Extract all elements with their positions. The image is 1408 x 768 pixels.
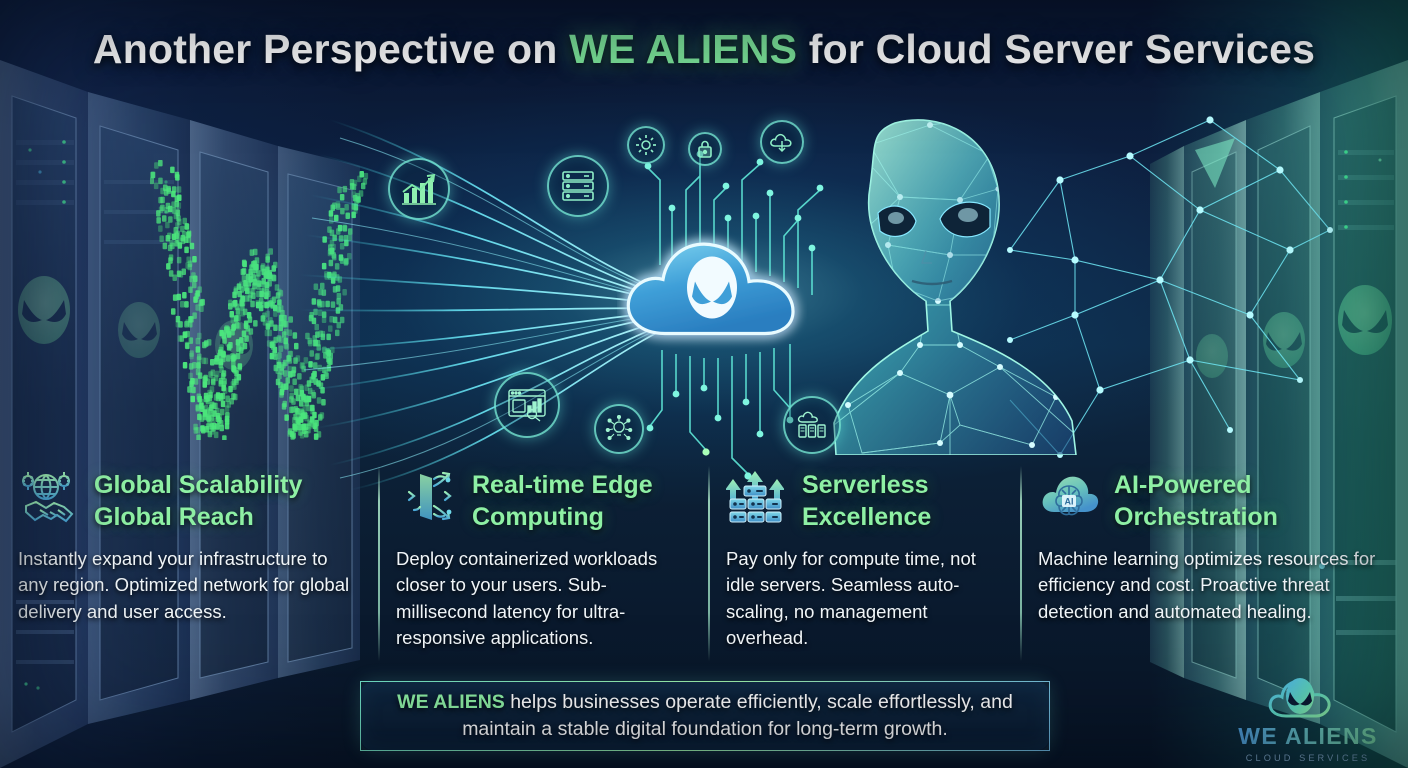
banner-copy: helps businesses operate efficiently, sc…: [462, 691, 1013, 740]
banner-brand: WE ALIENS: [397, 691, 505, 713]
feature-title: AI-Powered Orchestration: [1114, 470, 1278, 534]
wireframe-alien-bust: [800, 105, 1120, 455]
title-before: Another Perspective on: [93, 26, 569, 72]
feature-header: AI AI-Powered Orchestration: [1038, 470, 1388, 534]
feature-title: Global Scalability Global Reach: [94, 470, 302, 534]
dashboard-monitor-icon: [494, 372, 560, 438]
feature-title-line2: Global Reach: [94, 502, 302, 534]
feature-title-line1: Real-time Edge: [472, 470, 653, 502]
alien-head-in-cloud-icon: [1260, 676, 1356, 722]
feature-title-line2: Excellence: [802, 502, 931, 534]
feature-columns: Global Scalability Global Reach Instantl…: [0, 462, 1408, 667]
feature-title-line2: Computing: [472, 502, 653, 534]
feature-body: Machine learning optimizes resources for…: [1038, 546, 1388, 626]
feature-body: Instantly expand your infrastructure to …: [18, 546, 358, 626]
feature-column-ai-orchestration: AI AI-Powered Orchestration Machine lear…: [1020, 462, 1408, 667]
cloud-brain-ai-icon: AI: [1038, 470, 1102, 528]
feature-column-edge-computing: Real-time Edge Computing Deploy containe…: [378, 462, 708, 667]
feature-body: Deploy containerized workloads closer to…: [396, 546, 688, 653]
bar-chart-growth-icon: [388, 158, 450, 220]
feature-title-line1: Serverless: [802, 470, 931, 502]
feature-title-line1: AI-Powered: [1114, 470, 1278, 502]
server-stack-icon: [547, 155, 609, 217]
feature-column-serverless: Serverless Excellence Pay only for compu…: [708, 462, 1020, 667]
cloud-upload-icon: [760, 120, 804, 164]
central-cloud-graphic: [617, 226, 807, 361]
feature-column-global-scalability: Global Scalability Global Reach Instantl…: [0, 462, 378, 667]
feature-body: Pay only for compute time, not idle serv…: [726, 546, 1000, 653]
ai-icon-label: AI: [1065, 497, 1074, 507]
summary-banner-text: WE ALIENS helps businesses operate effic…: [361, 689, 1049, 743]
feature-header: Global Scalability Global Reach: [18, 470, 358, 534]
title-after: for Cloud Server Services: [797, 26, 1315, 72]
feature-title-line2: Orchestration: [1114, 502, 1278, 534]
lightbulb-network-icon: [594, 404, 644, 454]
brand-logo: WE ALIENS CLOUD SERVICES: [1228, 676, 1388, 764]
feature-title: Real-time Edge Computing: [472, 470, 653, 534]
feature-header: Real-time Edge Computing: [396, 470, 688, 534]
logo-tagline: CLOUD SERVICES: [1246, 753, 1370, 763]
edge-computing-arrows-icon: [396, 470, 460, 528]
server-scaling-arrows-icon: [726, 470, 790, 528]
feature-header: Serverless Excellence: [726, 470, 1000, 534]
gear-cog-icon: [627, 126, 665, 164]
summary-banner: WE ALIENS helps businesses operate effic…: [360, 681, 1050, 751]
feature-title-line1: Global Scalability: [94, 470, 302, 502]
padlock-security-icon: [688, 132, 722, 166]
feature-title: Serverless Excellence: [802, 470, 931, 534]
infographic-canvas: Another Perspective on WE ALIENS for Clo…: [0, 0, 1408, 768]
cloud-with-alien-icon: [617, 226, 807, 356]
cloud-server-rack-icon: [783, 396, 841, 454]
alien-head-in-cloud: [687, 257, 737, 319]
logo-wordmark: WE ALIENS: [1238, 723, 1378, 750]
page-title: Another Perspective on WE ALIENS for Clo…: [0, 26, 1408, 73]
globe-gears-handshake-icon: [18, 470, 82, 528]
title-accent-brand: WE ALIENS: [569, 26, 797, 72]
